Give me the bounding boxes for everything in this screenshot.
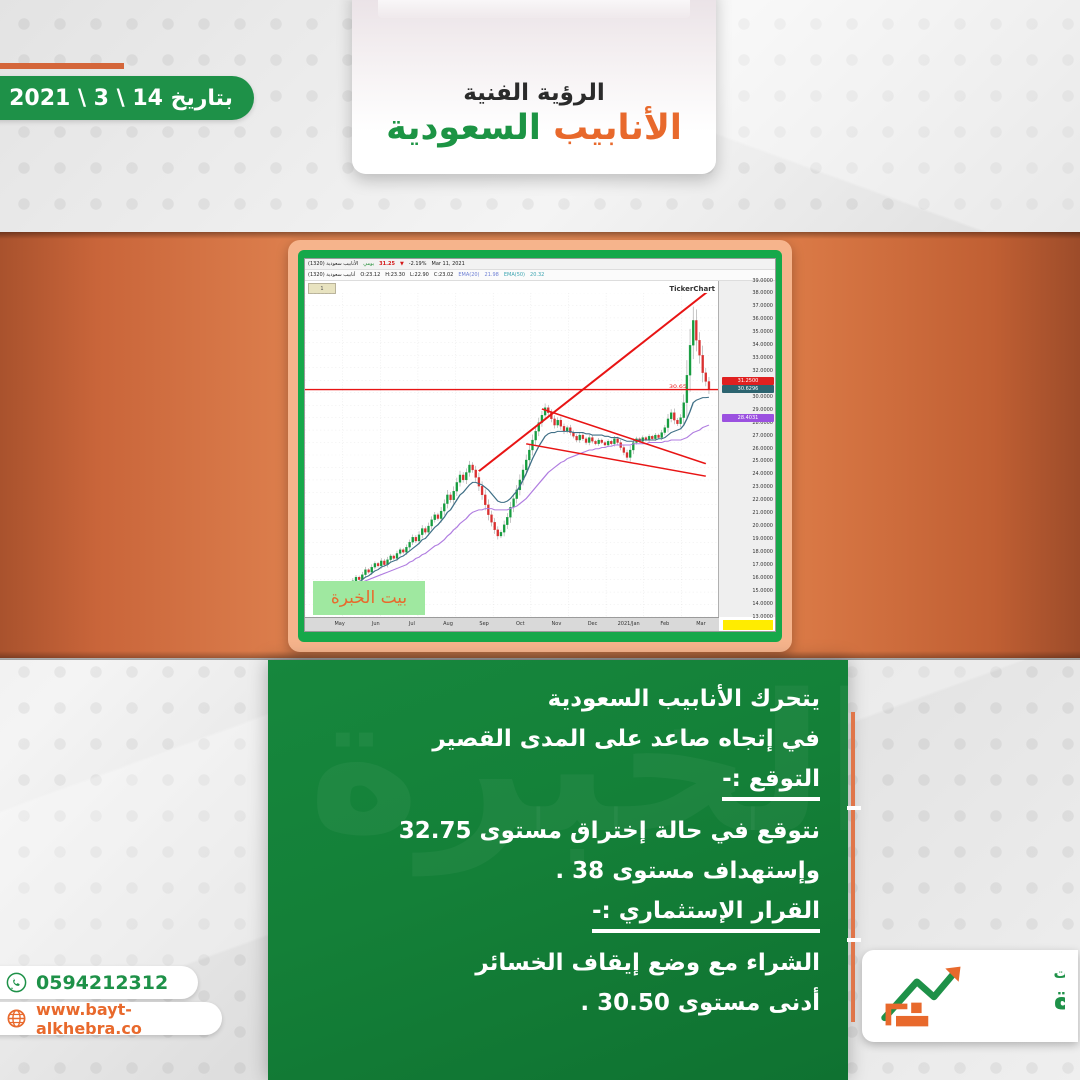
chart-date: Mar 11, 2021 xyxy=(432,261,465,267)
price-tick-label: 39.0000 xyxy=(752,279,773,284)
svg-text:30.65: 30.65 xyxy=(669,385,687,390)
analysis-line-7: الشراء مع وضع إيقاف الخسائر xyxy=(292,952,820,975)
price-marker-ema-50: 28.4031 xyxy=(722,414,774,422)
time-tick-label: Jul xyxy=(409,621,415,627)
chart-time-axis: MayJunJulAugSepOctNovDec2021/JanFebMar xyxy=(305,617,719,631)
price-tick-label: 27.0000 xyxy=(752,434,773,439)
price-tick-label: 22.0000 xyxy=(752,498,773,503)
title-card: الرؤية الفنية الأنابيب السعودية xyxy=(352,0,716,174)
price-tick-label: 34.0000 xyxy=(752,343,773,348)
price-tick-label: 18.0000 xyxy=(752,550,773,555)
chart-brand-watermark: بيت الخبرة xyxy=(313,581,425,615)
phone-number: 0594212312 xyxy=(36,972,168,994)
chart-ema20-label: EMA(20) xyxy=(458,272,479,278)
website-contact[interactable]: www.bayt-alkhebra.co xyxy=(0,1002,222,1035)
analysis-panel: الخبرة يتحرك الأنابيب السعوديةفي إتجاه ص… xyxy=(268,660,848,1080)
price-tick-label: 16.0000 xyxy=(752,576,773,581)
orange-vertical-rule xyxy=(851,712,855,1022)
price-tick-label: 38.0000 xyxy=(752,291,773,296)
price-tick-label: 14.0000 xyxy=(752,602,773,607)
price-tick-label: 23.0000 xyxy=(752,485,773,490)
price-tick-label: 37.0000 xyxy=(752,304,773,309)
price-tick-label: 13.0000 xyxy=(752,615,773,620)
analysis-line-8: أدنى مستوى 30.50 . xyxy=(292,992,820,1015)
chart-ema50-label: EMA(50) xyxy=(504,272,525,278)
whatsapp-icon xyxy=(6,972,27,993)
page-title: الأنابيب السعودية xyxy=(386,108,682,148)
chart-high: H:23.30 xyxy=(385,272,405,278)
analysis-line-1: يتحرك الأنابيب السعودية xyxy=(292,688,820,711)
analysis-text-block: يتحرك الأنابيب السعوديةفي إتجاه صاعد على… xyxy=(292,688,820,1032)
time-tick-label: 2021/Jan xyxy=(618,621,640,627)
price-tick-label: 30.0000 xyxy=(752,395,773,400)
chart-plot-area[interactable]: 30.65 xyxy=(305,293,719,617)
chart-symbol: الأنابيب سعودية (1320) xyxy=(308,261,358,267)
brand-logo[interactable]: الخبرة بيت xyxy=(862,950,1078,1042)
band-bottom-shadow xyxy=(0,651,1080,660)
price-tick-label: 32.0000 xyxy=(752,369,773,374)
price-tick-label: 25.0000 xyxy=(752,459,773,464)
analysis-line-2: في إتجاه صاعد على المدى القصير xyxy=(292,728,820,751)
price-tick-label: 24.0000 xyxy=(752,472,773,477)
price-tick-label: 19.0000 xyxy=(752,537,773,542)
analysis-line-3: التوقع :- xyxy=(292,768,820,801)
svg-text:الخبرة: الخبرة xyxy=(1053,978,1065,1016)
band-top-shadow xyxy=(0,232,1080,239)
panel-tick-2 xyxy=(847,938,861,942)
time-tick-label: Aug xyxy=(443,621,453,627)
chart-change-pct: -2.19% xyxy=(409,261,427,267)
date-accent-bar xyxy=(0,63,124,69)
price-tick-label: 33.0000 xyxy=(752,356,773,361)
analysis-line-4: نتوقع في حالة إختراق مستوى 32.75 xyxy=(292,820,820,843)
chart-canvas[interactable]: الأنابيب سعودية (1320) يومي 31.25 ▼ -2.1… xyxy=(304,258,776,632)
price-tick-label: 20.0000 xyxy=(752,524,773,529)
analysis-line-5: وإستهداف مستوى 38 . xyxy=(292,860,820,883)
price-tick-label: 26.0000 xyxy=(752,447,773,452)
time-tick-label: Oct xyxy=(516,621,525,627)
time-tick-label: Sep xyxy=(479,621,488,627)
chart-close: C:23.02 xyxy=(434,272,454,278)
price-tick-label: 15.0000 xyxy=(752,589,773,594)
chart-frame: الأنابيب سعودية (1320) يومي 31.25 ▼ -2.1… xyxy=(288,240,792,652)
chart-info-row-1: الأنابيب سعودية (1320) يومي 31.25 ▼ -2.1… xyxy=(305,259,775,270)
time-tick-label: Feb xyxy=(660,621,669,627)
time-tick-label: Dec xyxy=(588,621,598,627)
chart-ohlc-symbol: أنابيب سعودية (1320) xyxy=(308,272,355,278)
chart-ema50-value: 20.32 xyxy=(530,272,544,278)
website-url: www.bayt-alkhebra.co xyxy=(36,1000,206,1038)
price-tick-label: 35.0000 xyxy=(752,330,773,335)
chart-info-row-2: أنابيب سعودية (1320) O:23.12 H:23.30 L:2… xyxy=(305,270,775,281)
chart-price-axis: 39.000038.000037.000036.000035.000034.00… xyxy=(718,281,775,617)
price-tick-label: 21.0000 xyxy=(752,511,773,516)
page-title-green: السعودية xyxy=(386,108,553,148)
chart-down-arrow-icon: ▼ xyxy=(400,261,404,267)
whatsapp-contact[interactable]: 0594212312 xyxy=(0,966,198,999)
time-tick-label: Mar xyxy=(696,621,705,627)
time-tick-label: Jun xyxy=(372,621,380,627)
bayt-alkhebra-logo-icon: الخبرة بيت xyxy=(875,959,1065,1033)
page-title-orange: الأنابيب xyxy=(553,108,682,148)
price-tick-label: 36.0000 xyxy=(752,317,773,322)
analysis-heading: التوقع :- xyxy=(722,768,820,801)
price-marker-last-price: 31.2500 xyxy=(722,377,774,385)
chart-last-price: 31.25 xyxy=(379,261,395,267)
chart-date-tag xyxy=(723,620,773,630)
card-sheen xyxy=(378,0,690,18)
date-badge: بتاريخ 14 \ 3 \ 2021 xyxy=(0,76,254,120)
page-subtitle: الرؤية الفنية xyxy=(463,80,605,106)
panel-tick-1 xyxy=(847,806,861,810)
chart-low: L:22.90 xyxy=(410,272,429,278)
chart-ema20-value: 21.98 xyxy=(485,272,499,278)
analysis-heading: القرار الإستثماري :- xyxy=(592,900,820,933)
globe-icon xyxy=(6,1008,27,1029)
chart-provider-watermark: TickerChart xyxy=(669,285,715,293)
chart-plot-svg: 30.65 xyxy=(305,293,719,617)
time-tick-label: Nov xyxy=(552,621,562,627)
price-tick-label: 17.0000 xyxy=(752,563,773,568)
chart-green-border: الأنابيب سعودية (1320) يومي 31.25 ▼ -2.1… xyxy=(298,250,782,642)
svg-text:بيت: بيت xyxy=(1053,964,1065,982)
chart-open: O:23.12 xyxy=(360,272,380,278)
time-tick-label: May xyxy=(334,621,344,627)
analysis-line-6: القرار الإستثماري :- xyxy=(292,900,820,933)
price-marker-ema-20: 30.6296 xyxy=(722,385,774,393)
chart-interval: يومي xyxy=(363,261,374,267)
price-tick-label: 29.0000 xyxy=(752,408,773,413)
